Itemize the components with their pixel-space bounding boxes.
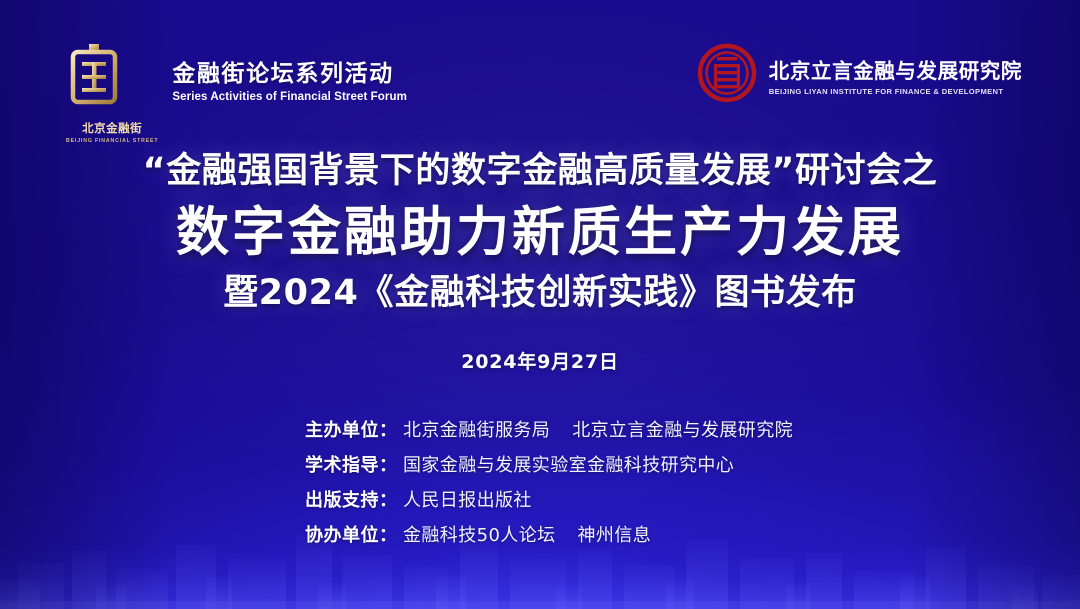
credit-label: 出版支持 xyxy=(275,486,379,512)
poster-header: 北京金融街 BEIJING FINANCIAL STREET 金融街论坛系列活动… xyxy=(0,40,1080,120)
title-line-2-main: 数字金融助力新质生产力发展 xyxy=(0,198,1080,266)
title-line-3: 暨2024《金融科技创新实践》图书发布 xyxy=(0,268,1080,318)
credit-value: 人民日报出版社 xyxy=(403,486,532,512)
forum-title-cn: 金融街论坛系列活动 xyxy=(172,54,407,88)
credit-value: 北京金融街服务局 xyxy=(403,416,550,442)
credit-value: 神州信息 xyxy=(578,521,652,547)
event-poster: 北京金融街 BEIJING FINANCIAL STREET 金融街论坛系列活动… xyxy=(0,0,1080,609)
poster-title-block: “金融强国背景下的数字金融高质量发展”研讨会之 数字金融助力新质生产力发展 暨2… xyxy=(0,148,1080,374)
institute-name-cn: 北京立言金融与发展研究院 xyxy=(769,54,1022,84)
credit-colon: ： xyxy=(379,451,397,477)
credit-label: 主办单位 xyxy=(275,416,379,442)
liyan-institute-logo: 北京立言金融与发展研究院 BEIJING LIYAN INSTITUTE FOR… xyxy=(696,42,1022,104)
credit-colon: ： xyxy=(379,486,397,512)
title-line-1: “金融强国背景下的数字金融高质量发展”研讨会之 xyxy=(0,148,1080,194)
event-date: 2024年9月27日 xyxy=(0,347,1080,374)
credit-colon: ： xyxy=(379,416,397,442)
credit-value: 国家金融与发展实验室金融科技研究中心 xyxy=(403,451,734,477)
liyan-institute-red-seal xyxy=(696,42,758,104)
credit-colon: ： xyxy=(379,521,397,547)
credit-value: 金融科技50人论坛 xyxy=(403,521,556,547)
forum-title-en: Series Activities of Financial Street Fo… xyxy=(172,91,407,103)
financial-street-logo: 北京金融街 BEIJING FINANCIAL STREET 金融街论坛系列活动… xyxy=(66,42,407,144)
institute-name-en: BEIJING LIYAN INSTITUTE FOR FINANCE & DE… xyxy=(769,87,1022,96)
credit-label: 协办单位 xyxy=(275,521,379,547)
credit-value: 北京立言金融与发展研究院 xyxy=(572,416,793,442)
beijing-financial-street-gold-mark xyxy=(66,42,122,114)
credit-row: 主办单位 ： 北京金融街服务局 北京立言金融与发展研究院 xyxy=(275,416,805,442)
credit-label: 学术指导 xyxy=(275,451,379,477)
credit-row: 协办单位 ： 金融科技50人论坛 神州信息 xyxy=(275,521,805,547)
credit-row: 学术指导 ： 国家金融与发展实验室金融科技研究中心 xyxy=(275,451,805,477)
organizer-credits: 主办单位 ： 北京金融街服务局 北京立言金融与发展研究院 学术指导 ： 国家金融… xyxy=(0,416,1080,556)
credit-row: 出版支持 ： 人民日报出版社 xyxy=(275,486,805,512)
fs-brand-en: BEIJING FINANCIAL STREET xyxy=(66,138,158,144)
fs-brand-cn: 北京金融街 xyxy=(66,120,158,136)
